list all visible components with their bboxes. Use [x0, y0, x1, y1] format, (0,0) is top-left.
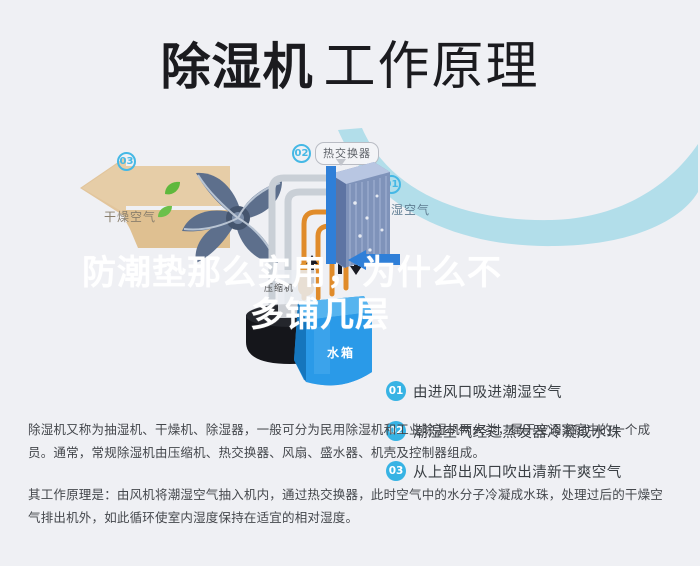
water-tank-label: 水箱 — [327, 344, 355, 361]
paragraph-2: 其工作原理是：由风机将潮湿空气抽入机内，通过热交换器，此时空气中的水分子冷凝成水… — [28, 483, 674, 529]
dehumidifier-body-illustration — [238, 268, 378, 398]
page-title: 除湿机工作原理 — [0, 24, 700, 99]
dehumidifier-diagram: 干燥空气 03 潮湿空气 01 02 热交换器 — [0, 118, 700, 408]
title-light-part: 工作原理 — [323, 38, 539, 96]
badge-step-02: 02 — [292, 144, 311, 163]
compressor-label: 压缩机 — [264, 281, 294, 294]
paragraph-1: 除湿机又称为抽湿机、干燥机、除湿器，一般可分为民用除湿机和工业除湿机两大类，属于… — [28, 418, 674, 464]
step-number: 01 — [386, 381, 406, 401]
badge-step-03: 03 — [117, 152, 136, 171]
title-strong-part: 除湿机 — [160, 38, 313, 96]
step-label: 由进风口吸进潮湿空气 — [413, 381, 562, 402]
step-item-01: 01 由进风口吸进潮湿空气 — [386, 371, 686, 411]
description-text: 除湿机又称为抽湿机、干燥机、除湿器，一般可分为民用除湿机和工业除湿机两大类，属于… — [28, 418, 674, 529]
air-inlet-arrow-icon — [348, 250, 400, 270]
leaf-icon-2 — [157, 205, 173, 219]
dry-air-label: 干燥空气 — [104, 208, 156, 225]
infographic-page: 除湿机工作原理 干燥空气 03 潮湿空气 01 02 热交换器 — [0, 0, 700, 566]
